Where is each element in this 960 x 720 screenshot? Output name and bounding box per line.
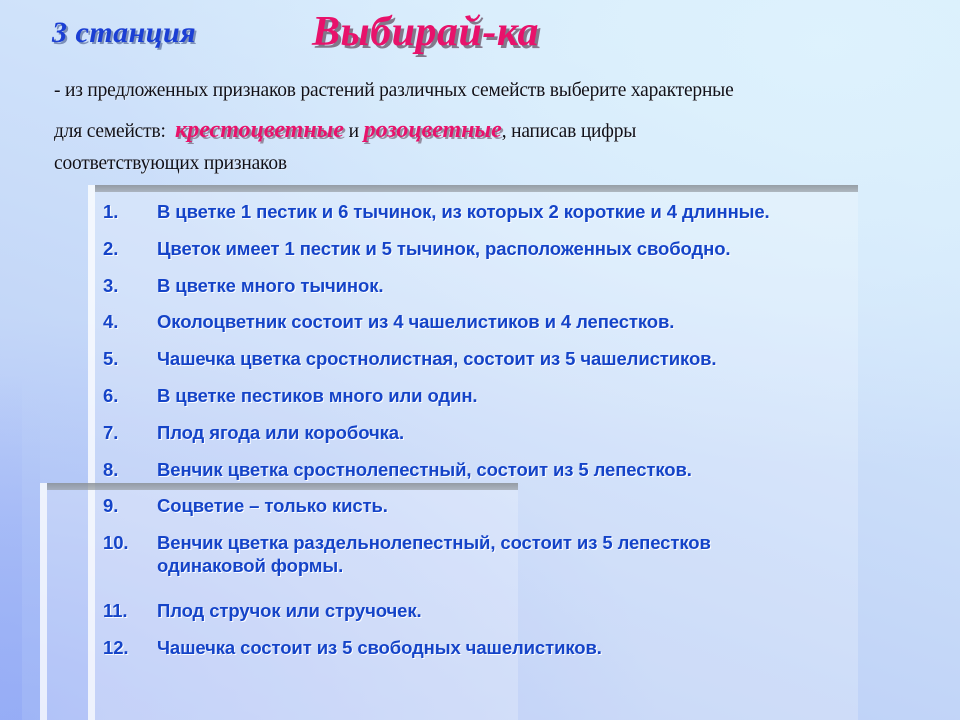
list-item-text: Венчик цветка раздельнолепестный, состои… <box>157 531 925 578</box>
list-item-number: 6. <box>95 384 157 407</box>
instruction-conjunction: и <box>349 121 359 142</box>
panel-left-highlight-edge <box>40 483 47 720</box>
list-item-text: Венчик цветка сростнолепестный, состоит … <box>157 458 925 481</box>
list-item-text: Соцветие – только кисть. <box>157 494 925 517</box>
feature-list: 1.В цветке 1 пестик и 6 тычинок, из кото… <box>95 200 925 672</box>
list-item: 7.Плод ягода или коробочка. <box>95 421 925 444</box>
instruction-line-3: соответствующих признаков <box>54 149 934 179</box>
list-item-number: 10. <box>95 531 157 554</box>
family-name-cruciferous: крестоцветные <box>175 117 344 143</box>
list-item-text: В цветке пестиков много или один. <box>157 384 925 407</box>
title-row: 3 станция Выбирай-ка <box>0 0 960 68</box>
list-item: 10.Венчик цветка раздельнолепестный, сос… <box>95 531 925 578</box>
list-item-number: 11. <box>95 599 157 622</box>
list-item-text: В цветке много тычинок. <box>157 274 925 297</box>
slide-canvas: 3 станция Выбирай-ка - из предложенных п… <box>0 0 960 720</box>
instruction-line-2-prefix: для семейств <box>54 121 160 142</box>
slide-header: 3 станция Выбирай-ка - из предложенных п… <box>0 0 960 68</box>
instruction-colon: : <box>160 121 165 142</box>
panel-top-shadow-bar <box>95 185 858 192</box>
list-item-text: Плод ягода или коробочка. <box>157 421 925 444</box>
list-item-text: Чашечка состоит из 5 свободных чашелисти… <box>157 636 925 659</box>
instruction-text: - из предложенных признаков растений раз… <box>54 76 934 179</box>
list-item-number: 2. <box>95 237 157 260</box>
list-item: 1.В цветке 1 пестик и 6 тычинок, из кото… <box>95 200 925 223</box>
list-item-number: 8. <box>95 458 157 481</box>
list-item: 11.Плод стручок или стручочек. <box>95 599 925 622</box>
list-item: 6.В цветке пестиков много или один. <box>95 384 925 407</box>
list-item-text: Цветок имеет 1 пестик и 5 тычинок, распо… <box>157 237 925 260</box>
list-item-text: Чашечка цветка сростнолистная, состоит и… <box>157 347 925 370</box>
list-item-number: 3. <box>95 274 157 297</box>
list-item: 2.Цветок имеет 1 пестик и 5 тычинок, рас… <box>95 237 925 260</box>
list-item: 9.Соцветие – только кисть. <box>95 494 925 517</box>
station-title: 3 станция <box>52 16 196 50</box>
list-item: 4.Околоцветник состоит из 4 чашелистиков… <box>95 310 925 333</box>
instruction-line-2: для семейств: крестоцветные и розоцветны… <box>54 112 934 148</box>
list-item-text: Околоцветник состоит из 4 чашелистиков и… <box>157 310 925 333</box>
instruction-line-1: - из предложенных признаков растений раз… <box>54 76 934 106</box>
list-item-number: 7. <box>95 421 157 444</box>
family-name-rosaceous: розоцветные <box>364 117 502 143</box>
list-item: 12.Чашечка состоит из 5 свободных чашели… <box>95 636 925 659</box>
list-item-number: 5. <box>95 347 157 370</box>
list-item: 5.Чашечка цветка сростнолистная, состоит… <box>95 347 925 370</box>
list-item-text: Плод стручок или стручочек. <box>157 599 925 622</box>
list-item-number: 9. <box>95 494 157 517</box>
instruction-line-2-suffix: , написав цифры <box>502 121 636 142</box>
page-title: Выбирай-ка <box>312 8 539 56</box>
list-item: 3.В цветке много тычинок. <box>95 274 925 297</box>
list-item: 8.Венчик цветка сростнолепестный, состои… <box>95 458 925 481</box>
list-item-number: 1. <box>95 200 157 223</box>
list-item-text: В цветке 1 пестик и 6 тычинок, из которы… <box>157 200 925 223</box>
list-item-number: 4. <box>95 310 157 333</box>
list-item-number: 12. <box>95 636 157 659</box>
